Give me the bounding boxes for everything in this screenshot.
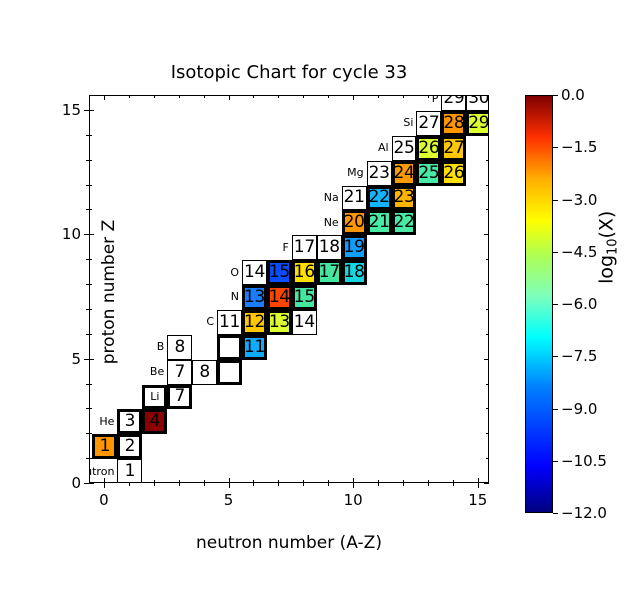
y-tick: [89, 110, 94, 111]
x-tick: [353, 95, 354, 100]
nuclide-cell[interactable]: 7: [167, 385, 192, 410]
x-tick: [204, 95, 205, 98]
nuclide-cell[interactable]: 28: [441, 111, 466, 136]
nuclide-cell[interactable]: [217, 335, 242, 360]
nuclide-cell[interactable]: 15: [292, 285, 317, 310]
x-tick: [278, 483, 279, 486]
x-tick: [179, 480, 180, 483]
nuclide-cell[interactable]: 18: [342, 260, 367, 285]
colorbar-label-sub: 10: [605, 239, 620, 255]
nuclide-cell[interactable]: 25: [392, 136, 417, 161]
y-tick: [89, 408, 92, 409]
y-tick: [89, 185, 92, 186]
colorbar-label: log10(X): [596, 157, 621, 337]
nuclide-cell[interactable]: 19: [342, 235, 367, 260]
y-tick-label: 5: [37, 350, 81, 368]
nuclide-cell[interactable]: 23: [392, 186, 417, 211]
y-tick-label: 15: [37, 101, 81, 119]
colorbar-tick: [553, 356, 558, 357]
x-tick: [129, 483, 130, 486]
colorbar-tick: [553, 200, 558, 201]
element-symbol-label: Al: [319, 142, 389, 153]
y-tick: [89, 259, 92, 260]
element-symbol-label: B: [94, 341, 164, 352]
x-tick: [154, 95, 155, 98]
y-tick: [89, 384, 92, 385]
nuclide-cell[interactable]: 1: [92, 434, 117, 459]
x-axis-label: neutron number (A-Z): [89, 533, 489, 553]
nuclide-cell[interactable]: 1: [117, 459, 142, 483]
element-symbol-label: H: [89, 441, 90, 452]
y-tick: [89, 234, 94, 235]
colorbar-tick-label: −10.5: [561, 452, 607, 470]
x-tick: [204, 480, 205, 483]
element-symbol-label: Na: [269, 192, 339, 203]
nuclide-cell[interactable]: 11: [242, 335, 267, 360]
nuclide-cell[interactable]: 26: [416, 136, 441, 161]
nuclide-cell[interactable]: 26: [441, 161, 466, 186]
colorbar-tick-label: 0.0: [561, 86, 585, 104]
nuclide-cell[interactable]: 11: [217, 310, 242, 335]
nuclide-cell[interactable]: 8: [192, 360, 217, 385]
x-tick: [229, 478, 230, 483]
x-tick: [278, 480, 279, 483]
colorbar-tick: [553, 147, 558, 148]
element-symbol-label: F: [219, 242, 289, 253]
colorbar-tick-label: −4.5: [561, 243, 597, 261]
nuclide-cell[interactable]: 2: [117, 434, 142, 459]
y-tick: [89, 359, 94, 360]
x-tick-label: 0: [74, 491, 134, 509]
colorbar-tick: [553, 252, 558, 253]
nuclide-cell[interactable]: 13: [267, 310, 292, 335]
element-symbol-label: Li: [142, 391, 167, 402]
y-tick: [89, 483, 94, 484]
y-tick: [486, 408, 489, 409]
element-symbol-label: P: [368, 95, 438, 104]
plot-area[interactable]: 1123477881111121314131415141516171817181…: [89, 95, 489, 483]
y-tick: [486, 160, 489, 161]
colorbar-tick-label: −7.5: [561, 347, 597, 365]
y-tick: [484, 483, 489, 484]
nuclide-cell[interactable]: 23: [367, 161, 392, 186]
colorbar-label-main: log: [596, 255, 618, 284]
x-tick: [154, 480, 155, 483]
x-tick: [253, 95, 254, 98]
colorbar-tick-label: −3.0: [561, 191, 597, 209]
colorbar-tick: [553, 461, 558, 462]
x-tick: [478, 478, 479, 483]
element-symbol-label: O: [169, 267, 239, 278]
nuclide-cell[interactable]: 17: [317, 260, 342, 285]
chart-title: Isotopic Chart for cycle 33: [89, 62, 489, 83]
nuclide-cell[interactable]: 24: [392, 161, 417, 186]
y-tick: [89, 309, 92, 310]
x-tick: [204, 483, 205, 486]
x-tick-label: 15: [448, 491, 508, 509]
nuclide-cell[interactable]: 3: [117, 409, 142, 434]
nuclide-cell[interactable]: 7: [167, 360, 192, 385]
nuclide-cell[interactable]: 30: [466, 95, 489, 111]
y-tick: [89, 284, 92, 285]
x-tick: [179, 483, 180, 486]
nuclide-cell[interactable]: 14: [292, 310, 317, 335]
x-tick: [253, 483, 254, 486]
nuclide-cell[interactable]: 21: [367, 210, 392, 235]
x-tick: [229, 483, 230, 488]
x-tick: [478, 483, 479, 488]
colorbar-tick-label: −6.0: [561, 295, 597, 313]
y-tick: [89, 334, 92, 335]
y-tick: [89, 209, 92, 210]
y-tick: [486, 259, 489, 260]
x-tick: [428, 483, 429, 486]
x-tick-label: 10: [323, 491, 383, 509]
x-tick: [378, 480, 379, 483]
nuclide-cell[interactable]: 8: [167, 335, 192, 360]
nuclide-cell[interactable]: 22: [367, 186, 392, 211]
nuclide-cell[interactable]: 22: [392, 210, 417, 235]
nuclide-cell[interactable]: 21: [342, 186, 367, 211]
nuclide-cell[interactable]: 29: [441, 95, 466, 111]
x-tick: [353, 483, 354, 488]
nuclide-cell[interactable]: 14: [242, 260, 267, 285]
x-tick: [453, 483, 454, 486]
nuclide-cell[interactable]: 15: [267, 260, 292, 285]
nuclide-cell[interactable]: 27: [441, 136, 466, 161]
x-tick: [453, 480, 454, 483]
y-tick: [486, 433, 489, 434]
y-axis-label: proton number Z: [99, 97, 119, 487]
colorbar-tick: [553, 95, 558, 96]
y-tick: [484, 234, 489, 235]
isotopic-chart-figure: Isotopic Chart for cycle 33 112347788111…: [0, 0, 637, 600]
y-tick: [486, 458, 489, 459]
element-symbol-label: C: [144, 316, 214, 327]
x-tick: [303, 483, 304, 486]
x-tick: [303, 480, 304, 483]
y-tick-label: 10: [37, 225, 81, 243]
y-tick: [486, 209, 489, 210]
colorbar[interactable]: [525, 95, 553, 513]
x-tick: [278, 95, 279, 98]
colorbar-tick-label: −9.0: [561, 400, 597, 418]
x-tick: [179, 95, 180, 98]
x-tick: [328, 95, 329, 98]
y-tick: [89, 160, 92, 161]
nuclide-cell[interactable]: 18: [317, 235, 342, 260]
nuclide-cell[interactable]: 13: [242, 285, 267, 310]
x-tick: [303, 95, 304, 98]
colorbar-tick: [553, 409, 558, 410]
colorbar-tick-label: −12.0: [561, 504, 607, 522]
y-tick: [486, 185, 489, 186]
y-tick-label: 0: [37, 474, 81, 492]
element-symbol-label: Ne: [269, 217, 339, 228]
element-symbol-label: Si: [343, 117, 413, 128]
colorbar-label-tail: (X): [596, 211, 618, 239]
x-tick: [353, 478, 354, 483]
element-symbol-label: He: [89, 416, 114, 427]
element-symbol-label: Mg: [294, 167, 364, 178]
x-tick: [154, 483, 155, 486]
colorbar-tick: [553, 513, 558, 514]
y-tick: [486, 309, 489, 310]
x-tick: [378, 483, 379, 486]
x-tick: [403, 480, 404, 483]
y-tick: [89, 135, 92, 136]
element-symbol-label: N: [169, 291, 239, 302]
x-tick: [328, 483, 329, 486]
element-symbol-label: Neutron: [89, 466, 114, 477]
nuclide-cell[interactable]: [217, 360, 242, 385]
colorbar-tick-label: −1.5: [561, 138, 597, 156]
nuclide-cell[interactable]: 4: [142, 409, 167, 434]
x-tick: [428, 480, 429, 483]
nuclide-cell[interactable]: 29: [466, 111, 489, 136]
x-tick: [229, 95, 230, 100]
x-tick: [253, 480, 254, 483]
nuclide-cell[interactable]: 12: [242, 310, 267, 335]
nuclide-cell[interactable]: 16: [292, 260, 317, 285]
y-tick: [486, 284, 489, 285]
colorbar-tick: [553, 304, 558, 305]
nuclide-cell[interactable]: 27: [416, 111, 441, 136]
x-tick: [328, 480, 329, 483]
nuclide-cell-layer: 1123477881111121314131415141516171817181…: [90, 96, 488, 482]
nuclide-cell[interactable]: 25: [416, 161, 441, 186]
x-tick: [403, 483, 404, 486]
x-tick: [129, 95, 130, 98]
y-tick: [484, 359, 489, 360]
x-tick-label: 5: [199, 491, 259, 509]
nuclide-cell[interactable]: 17: [292, 235, 317, 260]
y-tick: [486, 384, 489, 385]
element-symbol-label: Be: [94, 366, 164, 377]
nuclide-cell[interactable]: 20: [342, 210, 367, 235]
nuclide-cell[interactable]: 14: [267, 285, 292, 310]
y-tick: [486, 334, 489, 335]
